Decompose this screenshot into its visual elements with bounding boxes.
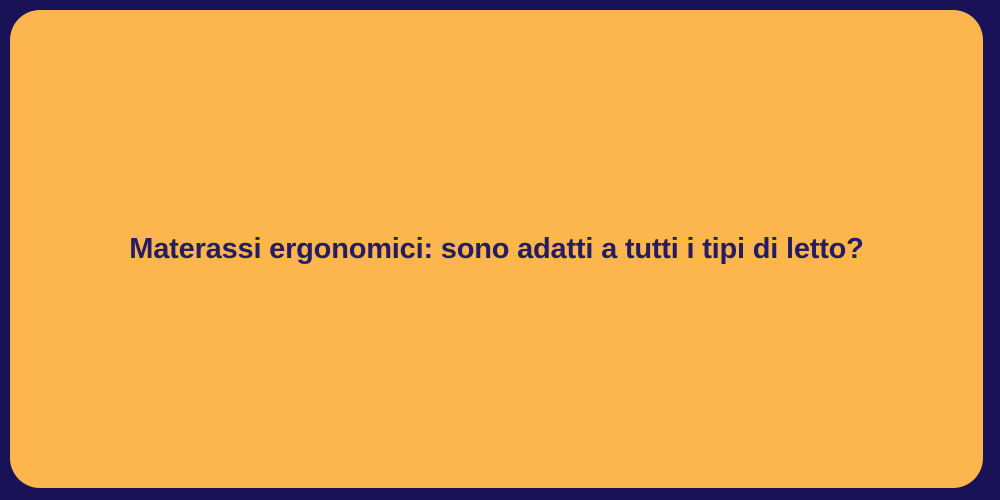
- page-title: Materassi ergonomici: sono adatti a tutt…: [89, 231, 903, 267]
- banner-panel: Materassi ergonomici: sono adatti a tutt…: [10, 10, 983, 488]
- banner-frame: Materassi ergonomici: sono adatti a tutt…: [0, 0, 1000, 500]
